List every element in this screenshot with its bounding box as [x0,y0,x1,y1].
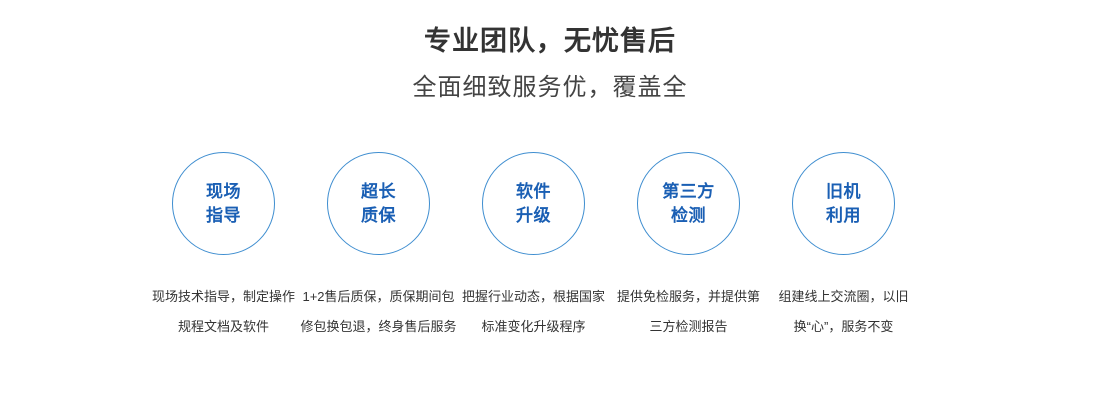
feature-item-third-party-inspection: 第三方 检测 提供免检服务，并提供第 三方检测报告 [637,152,740,255]
page-subtitle: 全面细致服务优，覆盖全 [0,72,1100,104]
feature-circle: 超长 质保 [327,152,430,255]
feature-list: 现场 指导 现场技术指导，制定操作 规程文档及软件 超长 质保 1+2售后质保，… [172,152,895,352]
feature-circle-line-1: 旧机 [826,180,861,204]
feature-caption-line-1: 1+2售后质保，质保期间包 [299,282,459,312]
feature-item-software-upgrade: 软件 升级 把握行业动态，根据国家 标准变化升级程序 [482,152,585,255]
service-promise-section: 专业团队，无忧售后 全面细致服务优，覆盖全 现场 指导 现场技术指导，制定操作 … [0,0,1100,404]
feature-circle: 现场 指导 [172,152,275,255]
feature-circle-line-1: 软件 [516,180,551,204]
heading-block: 专业团队，无忧售后 全面细致服务优，覆盖全 [0,24,1100,104]
feature-caption: 现场技术指导，制定操作 规程文档及软件 [144,282,304,342]
feature-caption-line-1: 组建线上交流圈，以旧 [764,282,924,312]
feature-caption: 组建线上交流圈，以旧 换“心”，服务不变 [764,282,924,342]
feature-caption: 把握行业动态，根据国家 标准变化升级程序 [454,282,614,342]
feature-circle-line-2: 利用 [826,204,861,228]
feature-item-extended-warranty: 超长 质保 1+2售后质保，质保期间包 修包换包退，终身售后服务 [327,152,430,255]
feature-circle-line-1: 现场 [206,180,241,204]
feature-caption-line-1: 现场技术指导，制定操作 [144,282,304,312]
page-title: 专业团队，无忧售后 [0,24,1100,58]
feature-caption-line-2: 三方检测报告 [609,312,769,342]
feature-circle: 软件 升级 [482,152,585,255]
feature-caption-line-1: 把握行业动态，根据国家 [454,282,614,312]
feature-caption-line-1: 提供免检服务，并提供第 [609,282,769,312]
feature-caption-line-2: 换“心”，服务不变 [764,312,924,342]
feature-caption-line-2: 修包换包退，终身售后服务 [299,312,459,342]
feature-circle-line-2: 质保 [361,204,396,228]
feature-circle-line-2: 升级 [516,204,551,228]
feature-circle-line-2: 检测 [671,204,706,228]
feature-caption: 1+2售后质保，质保期间包 修包换包退，终身售后服务 [299,282,459,342]
feature-caption-line-2: 规程文档及软件 [144,312,304,342]
feature-circle-line-1: 超长 [361,180,396,204]
feature-circle-line-2: 指导 [206,204,241,228]
feature-caption-line-2: 标准变化升级程序 [454,312,614,342]
feature-circle: 第三方 检测 [637,152,740,255]
feature-circle-line-1: 第三方 [662,180,715,204]
feature-item-trade-in: 旧机 利用 组建线上交流圈，以旧 换“心”，服务不变 [792,152,895,255]
feature-caption: 提供免检服务，并提供第 三方检测报告 [609,282,769,342]
feature-circle: 旧机 利用 [792,152,895,255]
feature-item-onsite-guidance: 现场 指导 现场技术指导，制定操作 规程文档及软件 [172,152,275,255]
